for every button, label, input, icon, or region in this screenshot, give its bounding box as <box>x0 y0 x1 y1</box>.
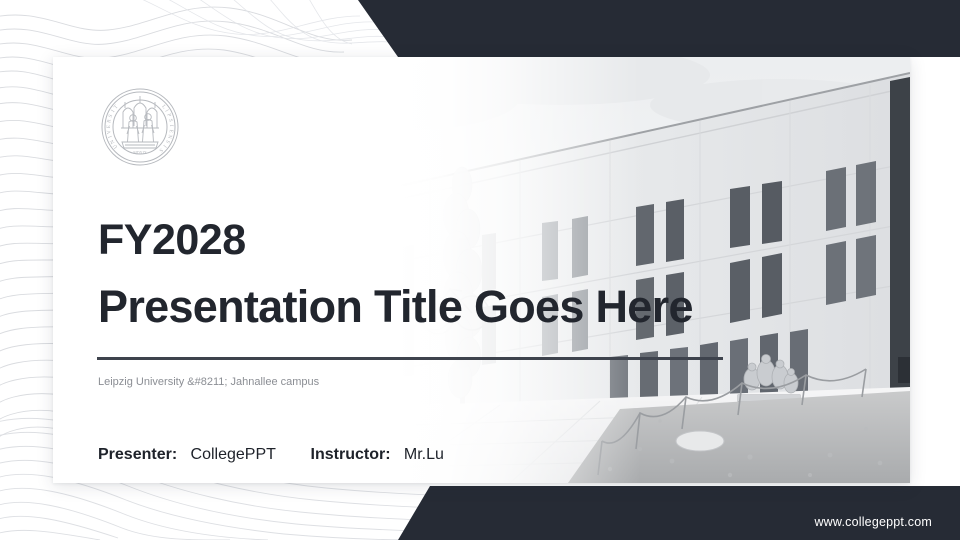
presenter-label: Presenter: <box>98 446 177 463</box>
slide-content-card: U N I V E R S I T L I P S I E N S <box>53 57 910 483</box>
svg-text:T: T <box>113 103 120 110</box>
svg-text:MDXIX: MDXIX <box>133 150 147 155</box>
svg-text:S: S <box>164 139 171 145</box>
top-right-navy-shape <box>358 0 960 57</box>
title-divider-rule <box>97 357 723 360</box>
instructor-value: Mr.Lu <box>404 446 444 463</box>
svg-text:S: S <box>167 118 174 122</box>
campus-building-photo <box>310 57 910 483</box>
svg-text:S: S <box>158 147 164 154</box>
svg-text:I: I <box>168 125 174 127</box>
svg-text:S: S <box>108 113 115 118</box>
instructor-label: Instructor: <box>311 446 391 463</box>
photo-white-fade-overlay <box>310 57 640 483</box>
svg-text:V: V <box>106 129 113 134</box>
svg-text:I: I <box>107 135 113 139</box>
presentation-slide: U N I V E R S I T L I P S I E N S <box>0 0 960 540</box>
fiscal-year-heading: FY2028 <box>98 219 246 262</box>
svg-text:E: E <box>106 125 112 129</box>
svg-text:E: E <box>167 129 173 133</box>
university-seal-logo: U N I V E R S I T L I P S I E N S <box>95 82 185 172</box>
subtitle-text: Leipzig University &#8211; Jahnallee cam… <box>98 375 319 390</box>
svg-text:P: P <box>165 113 172 118</box>
bottom-navy-band <box>398 486 960 540</box>
page-title: Presentation Title Goes Here <box>98 284 693 329</box>
presenter-value: CollegePPT <box>191 446 276 463</box>
credits-line: Presenter: CollegePPT Instructor: Mr.Lu <box>98 446 444 464</box>
footer-website-url[interactable]: www.collegeppt.com <box>814 515 932 529</box>
svg-text:R: R <box>106 118 113 123</box>
